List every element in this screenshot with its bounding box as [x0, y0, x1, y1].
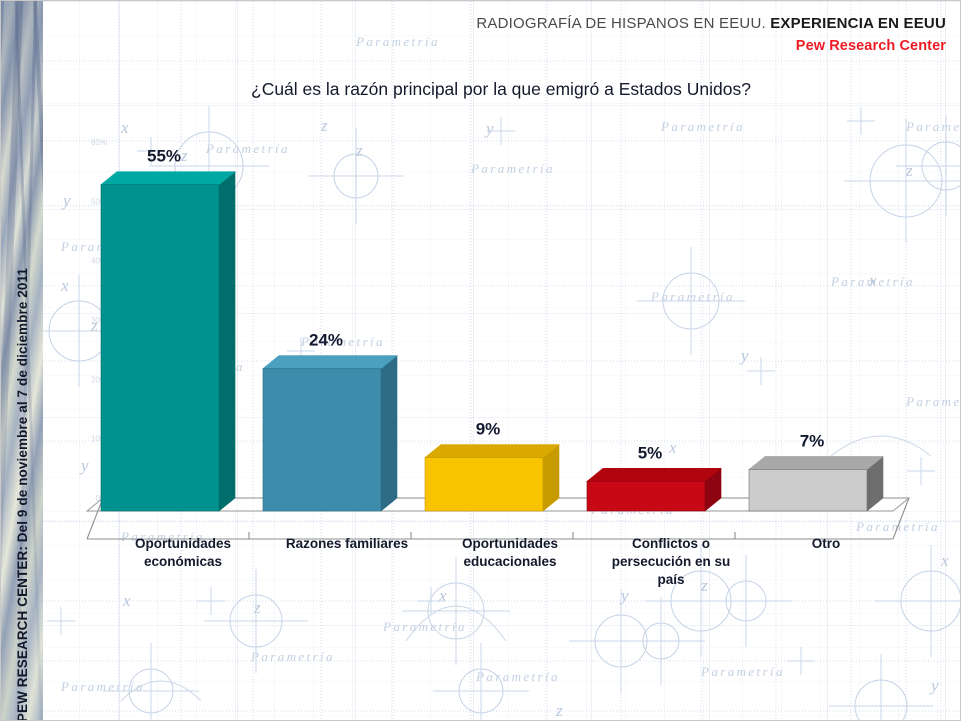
svg-text:Parametría: Parametría [250, 649, 335, 664]
bar-series-item: 24% [263, 331, 397, 511]
bar-value-label: 5% [638, 443, 663, 462]
bar-value-label: 7% [800, 431, 825, 450]
bar-top-face [101, 172, 235, 185]
y-axis-tick-label: 60% [91, 138, 107, 147]
bar-front-face [587, 481, 705, 511]
bar-value-label: 24% [309, 331, 343, 350]
header-title-bold: EXPERIENCIA EN EEUU [770, 15, 946, 32]
category-axis-labels: Oportunidades económicas Razones familia… [61, 535, 941, 615]
category-label-line: Otro [751, 535, 901, 553]
chart-title: ¿Cuál es la razón principal por la que e… [61, 79, 941, 100]
bar-top-face [587, 468, 721, 481]
category-label-line: Conflictos o [589, 535, 753, 553]
svg-text:y: y [929, 676, 939, 695]
svg-text:Parametría: Parametría [60, 679, 145, 694]
bar-front-face [425, 458, 543, 511]
left-decorative-photo-strip [1, 1, 43, 721]
bar-side-face [219, 172, 235, 511]
svg-text:z: z [555, 701, 563, 720]
bar-front-face [749, 469, 867, 511]
slide-canvas: ParametríaParametríaParametríaParametría… [0, 0, 961, 721]
bar-front-face [101, 185, 219, 511]
bar-series-item: 7% [749, 431, 883, 511]
bar-top-face [425, 445, 559, 458]
category-label-line: educacionales [425, 553, 595, 571]
bar-series-item: 55% [101, 147, 235, 511]
category-label-razones-familiares: Razones familiares [261, 535, 433, 553]
svg-text:Parametría: Parametría [475, 669, 560, 684]
svg-text:Parametría: Parametría [700, 664, 785, 679]
category-label-conflictos-persecucion: Conflictos o persecución en su país [589, 535, 753, 588]
category-label-line: Razones familiares [261, 535, 433, 553]
category-label-oportunidades-economicas: Oportunidades económicas [103, 535, 263, 571]
svg-text:Parametría: Parametría [382, 619, 467, 634]
svg-text:x: x [940, 551, 949, 570]
category-label-otro: Otro [751, 535, 901, 553]
category-label-line: Oportunidades [425, 535, 595, 553]
header-source-pew: Pew Research Center [476, 37, 946, 55]
bar-value-label: 9% [476, 420, 501, 439]
bar-series-item: 9% [425, 420, 559, 511]
header: RADIOGRAFÍA DE HISPANOS EN EEUU. EXPERIE… [476, 15, 946, 55]
header-title-regular: RADIOGRAFÍA DE HISPANOS EN EEUU. [476, 15, 770, 32]
bar-front-face [263, 369, 381, 511]
category-label-line: país [589, 571, 753, 589]
category-label-line: Oportunidades [103, 535, 263, 553]
category-label-oportunidades-educacionales: Oportunidades educacionales [425, 535, 595, 571]
category-label-line: persecución en su [589, 553, 753, 571]
bar-top-face [263, 356, 397, 369]
category-label-line: económicas [103, 553, 263, 571]
header-title-line: RADIOGRAFÍA DE HISPANOS EN EEUU. EXPERIE… [476, 15, 946, 34]
bar-series-item: 5% [587, 443, 721, 511]
bar-side-face [381, 356, 397, 511]
bar-top-face [749, 456, 883, 469]
svg-text:Parametría: Parametría [355, 34, 440, 49]
bar-value-label: 55% [147, 147, 181, 166]
